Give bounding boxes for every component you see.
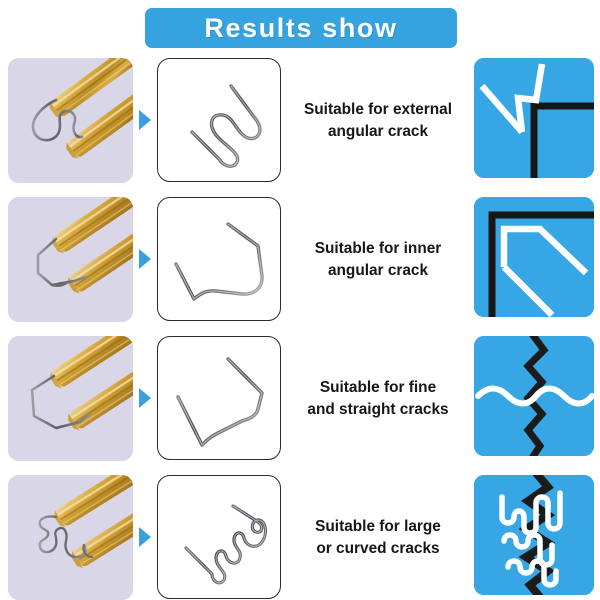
external-angular-crack-illustration	[474, 58, 594, 178]
caption-line-2: and straight cracks	[307, 399, 448, 421]
wave-staple-diagram	[157, 58, 281, 182]
caption-external-angular: Suitable for external angular crack	[288, 58, 468, 183]
row-external-angular: Suitable for external angular crack	[0, 54, 600, 193]
caption-line-2: angular crack	[328, 121, 428, 143]
comparison-rows: Suitable for external angular crack	[0, 54, 600, 600]
caption-inner-angular: Suitable for inner angular crack	[288, 197, 468, 322]
caption-line-1: Suitable for inner	[315, 238, 442, 260]
play-triangle-right-icon	[137, 248, 152, 270]
caption-line-2: angular crack	[328, 260, 428, 282]
welder-tips-holding-wave-staple-photo	[8, 58, 133, 183]
row-large-curved: Suitable for large or curved cracks	[0, 471, 600, 600]
fine-straight-crack-illustration	[474, 336, 594, 456]
page-title-banner: Results show	[145, 8, 457, 48]
inner-angular-crack-illustration	[474, 197, 594, 317]
caption-line-1: Suitable for fine	[320, 377, 436, 399]
caption-fine-straight: Suitable for fine and straight cracks	[288, 336, 468, 461]
play-triangle-right-icon	[137, 526, 152, 548]
welder-tips-holding-coil-staple-photo	[8, 475, 133, 600]
play-triangle-right-icon	[137, 109, 152, 131]
results-show-infographic: Results show	[0, 0, 600, 600]
page-title: Results show	[204, 15, 397, 42]
caption-large-curved: Suitable for large or curved cracks	[288, 475, 468, 600]
welder-tips-holding-flat-staple-photo	[8, 336, 133, 461]
play-triangle-right-icon	[137, 387, 152, 409]
coil-staple-diagram	[157, 475, 281, 599]
caption-line-1: Suitable for external	[304, 99, 452, 121]
caption-line-1: Suitable for large	[315, 516, 441, 538]
welder-tips-holding-u-staple-photo	[8, 197, 133, 322]
row-fine-straight: Suitable for fine and straight cracks	[0, 332, 600, 471]
large-curved-crack-illustration	[474, 475, 594, 595]
u-staple-diagram	[157, 197, 281, 321]
caption-line-2: or curved cracks	[316, 538, 439, 560]
flat-staple-diagram	[157, 336, 281, 460]
row-inner-angular: Suitable for inner angular crack	[0, 193, 600, 332]
